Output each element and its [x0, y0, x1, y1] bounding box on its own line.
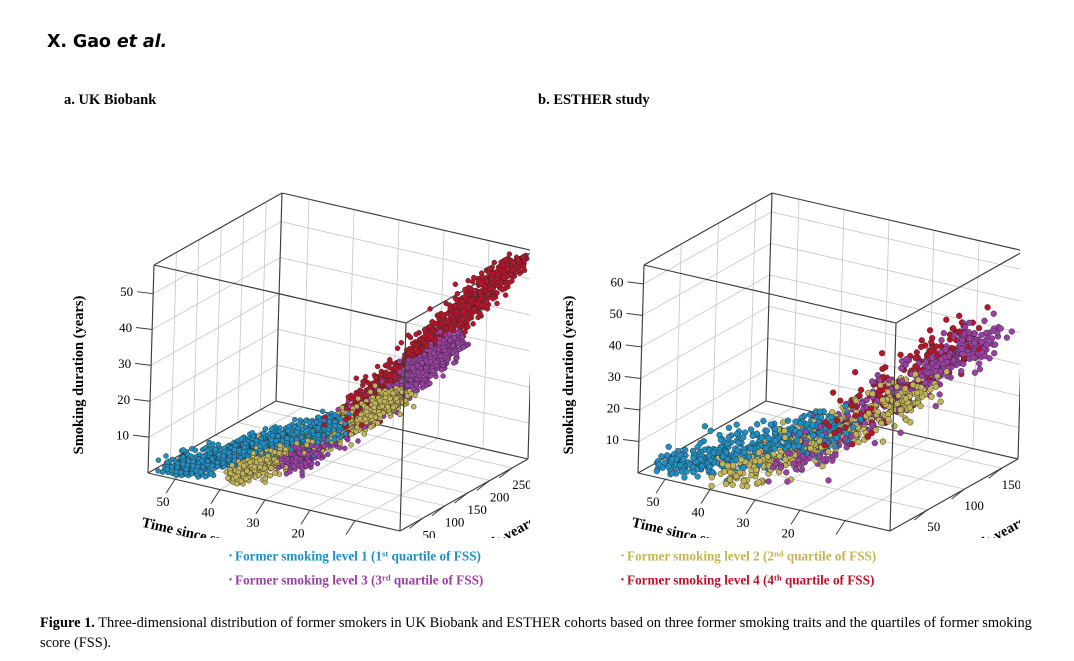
legend-ordinal: rd	[382, 573, 391, 583]
panel-a-title: a. UK Biobank	[64, 92, 156, 109]
legend-text-after: quartile of FSS)	[784, 549, 877, 564]
scatter-plot-esther: 102030405060504030201050100150Smoking du…	[520, 118, 1020, 538]
legend-text-before: Former smoking level 3 (3	[235, 573, 382, 588]
legend-item-level-4: ·Former smoking level 4 (4th quartile of…	[620, 572, 874, 589]
figure-caption: Figure 1. Three-dimensional distribution…	[40, 613, 1040, 654]
legend-item-level-3: ·Former smoking level 3 (3rd quartile of…	[228, 572, 483, 589]
legend-ordinal: th	[774, 573, 782, 583]
running-head-etal: et al.	[117, 32, 167, 52]
legend-marker-icon: ·	[228, 572, 233, 588]
running-head-author: X. Gao	[47, 32, 111, 52]
figure-page: X. Gao et al. a. UK Biobank b. ESTHER st…	[0, 0, 1074, 661]
running-head: X. Gao et al.	[47, 32, 167, 52]
legend-item-level-1: ·Former smoking level 1 (1st quartile of…	[228, 548, 481, 565]
panel-b-title: b. ESTHER study	[538, 92, 650, 109]
legend-marker-icon: ·	[620, 548, 625, 564]
legend-marker-icon: ·	[620, 572, 625, 588]
legend-text-after: quartile of FSS)	[391, 573, 484, 588]
legend-marker-icon: ·	[228, 548, 233, 564]
legend-ordinal: nd	[774, 549, 784, 559]
legend-text-before: Former smoking level 4 (4	[627, 573, 774, 588]
legend-text-before: Former smoking level 1 (1	[235, 549, 382, 564]
scatter-plot-uk-biobank: 1020304050504030201050100150200250Smokin…	[30, 118, 530, 538]
caption-label: Figure 1.	[40, 615, 95, 631]
legend: ·Former smoking level 1 (1st quartile of…	[0, 548, 1074, 596]
legend-text-before: Former smoking level 2 (2	[627, 549, 774, 564]
legend-item-level-2: ·Former smoking level 2 (2nd quartile of…	[620, 548, 876, 565]
legend-text-after: quartile of FSS)	[782, 573, 875, 588]
legend-text-after: quartile of FSS)	[388, 549, 481, 564]
caption-text: Three-dimensional distribution of former…	[40, 615, 1032, 651]
